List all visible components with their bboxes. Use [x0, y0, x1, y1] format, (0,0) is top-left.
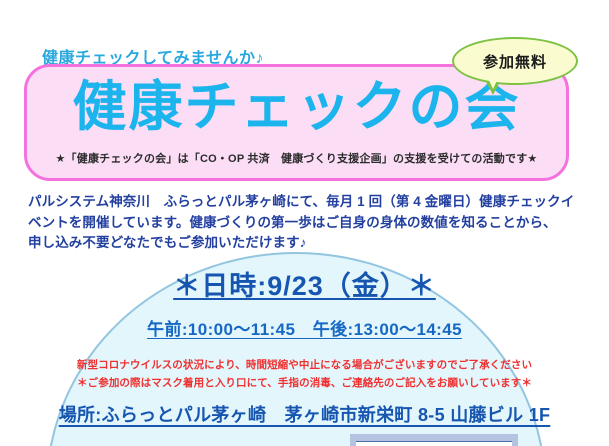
event-details: ＊日時:9/23（金）＊ 午前:10:00〜11:45 午後:13:00〜14:…: [0, 270, 609, 427]
covid-notice-line-1: 新型コロナウイルスの状況により、時間短縮や中止になる場合がございますのでご了承く…: [0, 356, 609, 374]
description-line-2: ベントを開催しています。健康づくりの第一歩はご自身の身体の数値を知ることから、: [28, 213, 584, 234]
covid-notice-line-2: ＊ご参加の際はマスク着用と入り口にて、手指の消毒、ご連絡先のご記入をお願いしてい…: [0, 374, 609, 392]
covid-notice: 新型コロナウイルスの状況により、時間短縮や中止になる場合がございますのでご了承く…: [0, 356, 609, 392]
bottom-panel-inner: [356, 441, 512, 446]
free-participation-badge: 参加無料: [452, 37, 578, 85]
free-participation-label: 参加無料: [483, 51, 547, 72]
description-line-1: パルシステム神奈川 ふらっとパル茅ヶ崎にて、毎月 1 回（第 4 金曜日）健康チ…: [28, 192, 584, 213]
event-hours: 午前:10:00〜11:45 午後:13:00〜14:45: [0, 315, 609, 340]
health-check-poster: 健康チェックしてみませんか♪ 参加無料 健康チェックの会 ★「健康チェックの会」…: [0, 0, 609, 446]
description-line-3: 申し込み不要どなたでもご参加いただけます♪: [28, 233, 584, 254]
sponsor-note: ★「健康チェックの会」は「CO・OP 共済 健康づくり支援企画」の支援を受けての…: [27, 150, 566, 166]
balloon-tail-fill: [487, 76, 499, 89]
event-date: ＊日時:9/23（金）＊: [0, 270, 609, 304]
event-location: 場所:ふらっとパル茅ヶ崎 茅ヶ崎市新栄町 8-5 山藤ビル 1F: [0, 401, 609, 427]
description-paragraph: パルシステム神奈川 ふらっとパル茅ヶ崎にて、毎月 1 回（第 4 金曜日）健康チ…: [28, 192, 584, 254]
